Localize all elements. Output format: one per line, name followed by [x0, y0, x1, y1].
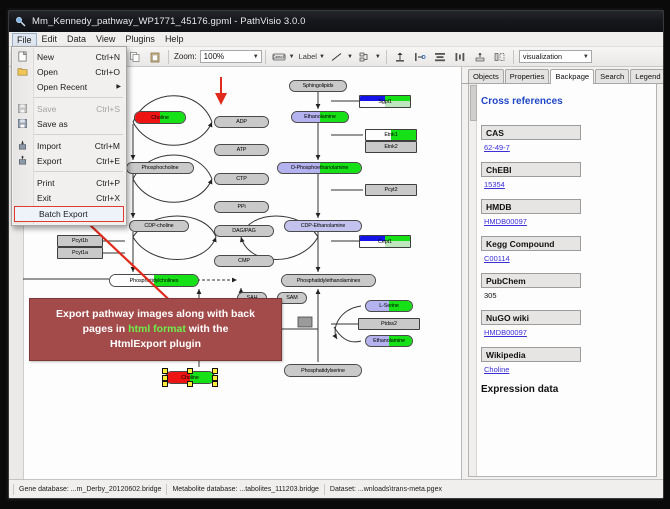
- tab-legend[interactable]: Legend: [630, 69, 664, 83]
- title-bar: Mm_Kennedy_pathway_WP1771_45176.gpml - P…: [9, 11, 663, 32]
- line-button[interactable]: [328, 48, 346, 66]
- interaction-chevron-down-icon[interactable]: ▼: [375, 54, 381, 60]
- svg-text:GeneP: GeneP: [272, 54, 285, 59]
- file-menu-item-print[interactable]: PrintCtrl+P: [12, 175, 126, 190]
- annotation-callout: Export pathway images along with back pa…: [29, 298, 282, 361]
- menu-separator: [34, 171, 123, 172]
- pathvisio-icon: [15, 16, 27, 28]
- toolbar-separator: [513, 50, 514, 64]
- cross-references-list: CAS62-49-7ChEBI15354HMDBHMDB00097Kegg Co…: [481, 125, 657, 374]
- datanode-button[interactable]: GeneP: [270, 48, 288, 66]
- file-menu-item-label: Open Recent: [32, 82, 116, 92]
- zoom-control[interactable]: Zoom: 100% ▼: [174, 50, 262, 63]
- copy-button[interactable]: [126, 48, 144, 66]
- menu-data[interactable]: Data: [62, 32, 91, 46]
- zoom-combobox[interactable]: 100% ▼: [200, 50, 262, 63]
- tab-properties[interactable]: Properties: [505, 69, 550, 83]
- chevron-right-icon: ▶: [116, 83, 126, 90]
- file-menu-item-label: Save: [32, 104, 96, 114]
- toolbar-separator: [168, 50, 169, 64]
- common-width-button[interactable]: [471, 48, 489, 66]
- file-menu-item-exit[interactable]: ExitCtrl+X: [12, 190, 126, 205]
- backpage-tabstrip: Objects Properties Backpage Search Legen…: [462, 67, 663, 84]
- callout-line-2-post: with the: [186, 323, 229, 335]
- file-menu-item-label: Save as: [32, 119, 120, 129]
- menu-separator: [34, 97, 123, 98]
- menu-file[interactable]: File: [12, 33, 37, 46]
- file-menu-item-accelerator: Ctrl+S: [96, 104, 126, 114]
- file-menu-item-accelerator: Ctrl+P: [96, 178, 126, 188]
- xref-source-nugo-wiki: NuGO wiki: [481, 310, 581, 325]
- toolbar-separator: [386, 50, 387, 64]
- chevron-down-icon: ▼: [583, 54, 589, 60]
- stack-horizontal-button[interactable]: [451, 48, 469, 66]
- xref-source-kegg-compound: Kegg Compound: [481, 236, 581, 251]
- file-menu-item-accelerator: Ctrl+E: [96, 156, 126, 166]
- xref-source-hmdb: HMDB: [481, 199, 581, 214]
- status-bar: Gene database: ...m_Derby_20120602.bridg…: [9, 479, 663, 498]
- stack-vertical-button[interactable]: [431, 48, 449, 66]
- xref-value-hmdb[interactable]: HMDB00097: [484, 217, 657, 226]
- menu-plugins[interactable]: Plugins: [120, 32, 160, 46]
- xref-value-nugo-wiki[interactable]: HMDB00097: [484, 328, 657, 337]
- line-chevron-down-icon[interactable]: ▼: [347, 54, 353, 60]
- backpage-body: Cross references CAS62-49-7ChEBI15354HMD…: [468, 84, 657, 477]
- file-menu-item-batch-export[interactable]: Batch Export: [14, 206, 124, 222]
- file-menu-item-accelerator: Ctrl+M: [95, 141, 126, 151]
- file-menu-item-save: SaveCtrl+S: [12, 101, 126, 116]
- zoom-label: Zoom:: [174, 52, 197, 61]
- file-menu-item-label: New: [32, 52, 96, 62]
- file-menu-item-accelerator: Ctrl+X: [96, 193, 126, 203]
- paste-button[interactable]: [146, 48, 164, 66]
- file-menu-item-save-as[interactable]: Save as: [12, 116, 126, 131]
- xref-value-wikipedia[interactable]: Choline: [484, 365, 657, 374]
- xref-value-cas[interactable]: 62-49-7: [484, 143, 657, 152]
- backpage-scrollbar[interactable]: [469, 84, 477, 476]
- menu-view[interactable]: View: [91, 32, 120, 46]
- screenshot-root: Mm_Kennedy_pathway_WP1771_45176.gpml - P…: [0, 0, 670, 509]
- import-icon: [12, 138, 32, 153]
- callout-line-2-pre: pages in: [83, 323, 129, 335]
- export-icon: [12, 153, 32, 168]
- cross-references-title: Cross references: [481, 96, 657, 107]
- tab-objects[interactable]: Objects: [468, 69, 504, 83]
- callout-highlight: html format: [128, 323, 186, 335]
- file-menu-item-label: Open: [32, 67, 95, 77]
- menu-item-no-icon: [12, 175, 32, 190]
- save-as-icon: [12, 116, 32, 131]
- menu-bar: File Edit Data View Plugins Help: [9, 32, 663, 47]
- label-chevron-down-icon[interactable]: ▼: [319, 54, 325, 60]
- right-side-panel: Objects Properties Backpage Search Legen…: [462, 67, 663, 479]
- callout-line-3: HtmlExport plugin: [110, 337, 201, 352]
- zoom-value: 100%: [204, 52, 224, 61]
- xref-value-chebi[interactable]: 15354: [484, 180, 657, 189]
- datanode-chevron-down-icon[interactable]: ▼: [289, 54, 295, 60]
- interaction-button[interactable]: [356, 48, 374, 66]
- file-menu-item-export[interactable]: ExportCtrl+E: [12, 153, 126, 168]
- xref-source-cas: CAS: [481, 125, 581, 140]
- file-menu-item-new[interactable]: NewCtrl+N: [12, 49, 126, 64]
- status-dataset: Dataset: ...wnloads\trans-meta.pgex: [324, 484, 447, 495]
- status-gene-database: Gene database: ...m_Derby_20120602.bridg…: [13, 484, 166, 495]
- toolbar-separator: [265, 50, 266, 64]
- menu-item-no-icon: [12, 79, 32, 94]
- menu-edit[interactable]: Edit: [37, 32, 63, 46]
- file-menu-item-accelerator: Ctrl+N: [96, 52, 126, 62]
- xref-value-kegg-compound[interactable]: C00114: [484, 254, 657, 263]
- xref-source-pubchem: PubChem: [481, 273, 581, 288]
- open-folder-icon: [12, 64, 32, 79]
- align-top-button[interactable]: [391, 48, 409, 66]
- tab-backpage[interactable]: Backpage: [550, 69, 594, 84]
- file-menu-item-open[interactable]: OpenCtrl+O: [12, 64, 126, 79]
- xref-source-wikipedia: Wikipedia: [481, 347, 581, 362]
- xref-source-chebi: ChEBI: [481, 162, 581, 177]
- file-menu-item-accelerator: Ctrl+O: [95, 67, 126, 77]
- scroll-thumb[interactable]: [470, 85, 477, 121]
- file-menu-item-label: Print: [32, 178, 96, 188]
- menu-item-no-icon: [15, 207, 35, 222]
- window-title: Mm_Kennedy_pathway_WP1771_45176.gpml - P…: [32, 16, 306, 27]
- xref-value-pubchem: 305: [484, 291, 657, 300]
- menu-help[interactable]: Help: [160, 32, 189, 46]
- file-menu-item-label: Export: [32, 156, 96, 166]
- file-menu-item-import[interactable]: ImportCtrl+M: [12, 138, 126, 153]
- expression-data-title: Expression data: [481, 384, 657, 395]
- tab-search[interactable]: Search: [595, 69, 629, 83]
- callout-line-2: pages in html format with the: [83, 322, 229, 337]
- file-menu-item-label: Batch Export: [35, 209, 117, 219]
- file-menu-item-label: Exit: [32, 193, 96, 203]
- file-menu-item-label: Import: [32, 141, 95, 151]
- chevron-down-icon: ▼: [253, 54, 259, 60]
- menu-separator: [34, 134, 123, 135]
- visualization-value: visualization: [523, 52, 562, 61]
- align-left-button[interactable]: [411, 48, 429, 66]
- new-file-icon: [12, 49, 32, 64]
- label-tool-label[interactable]: Label: [299, 52, 317, 61]
- backpage-content: Cross references CAS62-49-7ChEBI15354HMD…: [481, 84, 657, 395]
- file-menu-dropdown[interactable]: NewCtrl+NOpenCtrl+OOpen Recent▶SaveCtrl+…: [11, 46, 127, 226]
- callout-line-1: Export pathway images along with back: [56, 307, 255, 322]
- visualization-combobox[interactable]: visualization ▼: [519, 50, 592, 63]
- file-menu-item-open-recent[interactable]: Open Recent▶: [12, 79, 126, 94]
- common-height-button[interactable]: [491, 48, 509, 66]
- menu-item-no-icon: [12, 190, 32, 205]
- status-metabolite-database: Metabolite database: ...tabolites_111203…: [166, 484, 323, 495]
- save-icon: [12, 101, 32, 116]
